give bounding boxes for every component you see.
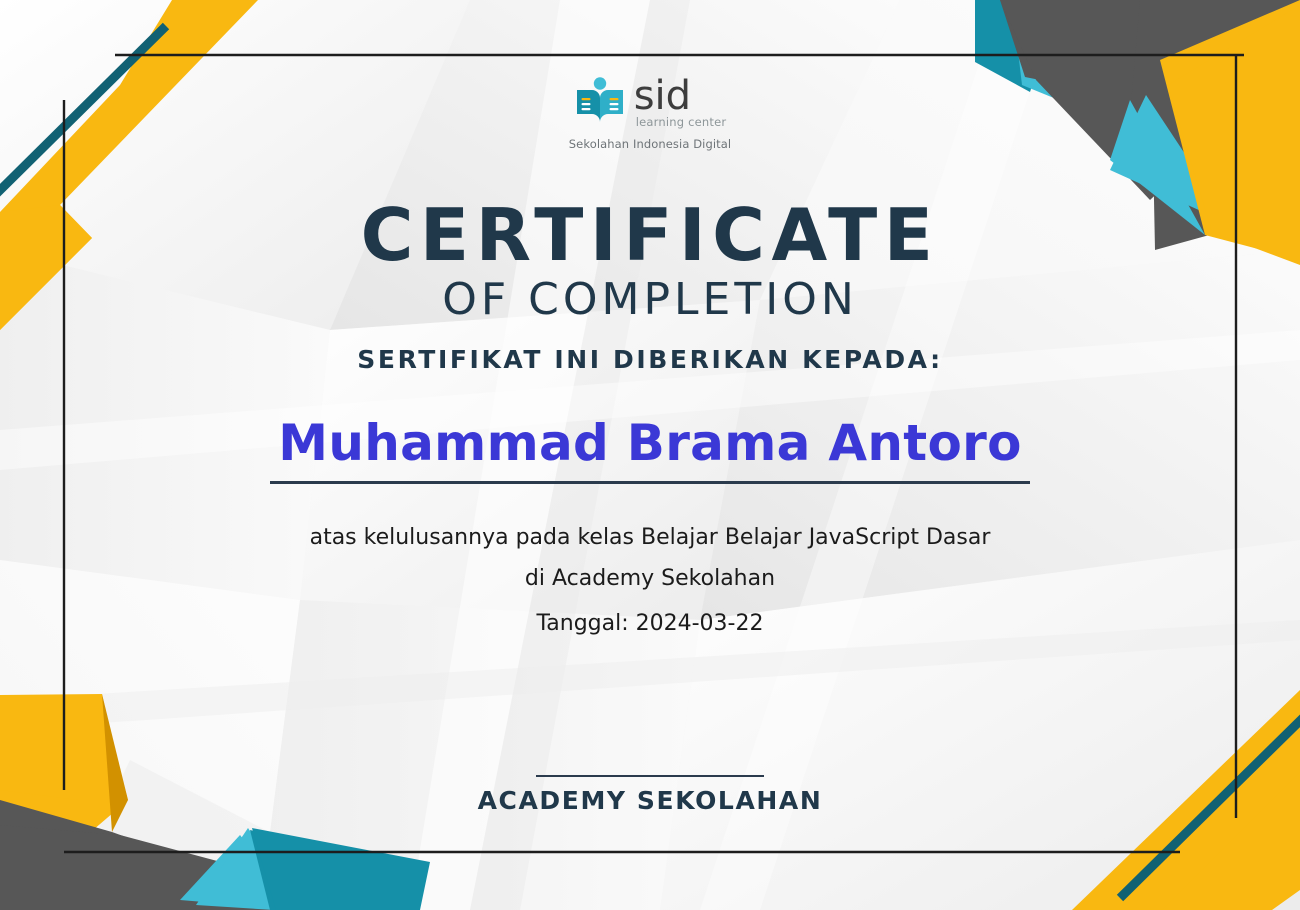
certificate-document: sid learning center Sekolahan Indonesia … bbox=[0, 0, 1300, 910]
logo-wordmark-sub: learning center bbox=[634, 117, 727, 129]
logo-wordmark: sid bbox=[634, 76, 727, 116]
body-line-1: atas kelulusannya pada kelas Belajar Bel… bbox=[0, 518, 1300, 559]
awarded-to-label: SERTIFIKAT INI DIBERIKAN KEPADA: bbox=[0, 345, 1300, 374]
brand-logo: sid learning center Sekolahan Indonesia … bbox=[0, 76, 1300, 151]
sid-open-book-icon bbox=[574, 76, 626, 128]
recipient-name: Muhammad Brama Antoro bbox=[0, 415, 1300, 473]
certificate-subtitle: OF COMPLETION bbox=[0, 278, 1300, 322]
certificate-title: CERTIFICATE bbox=[0, 199, 1300, 271]
logo-tagline: Sekolahan Indonesia Digital bbox=[0, 137, 1300, 151]
issue-date: Tanggal: 2024-03-22 bbox=[0, 611, 1300, 636]
recipient-underline bbox=[270, 481, 1030, 484]
body-line-2: di Academy Sekolahan bbox=[0, 559, 1300, 600]
body-text: atas kelulusannya pada kelas Belajar Bel… bbox=[0, 518, 1300, 599]
issuing-organization: ACADEMY SEKOLAHAN bbox=[0, 786, 1300, 815]
signature-line bbox=[536, 775, 764, 777]
